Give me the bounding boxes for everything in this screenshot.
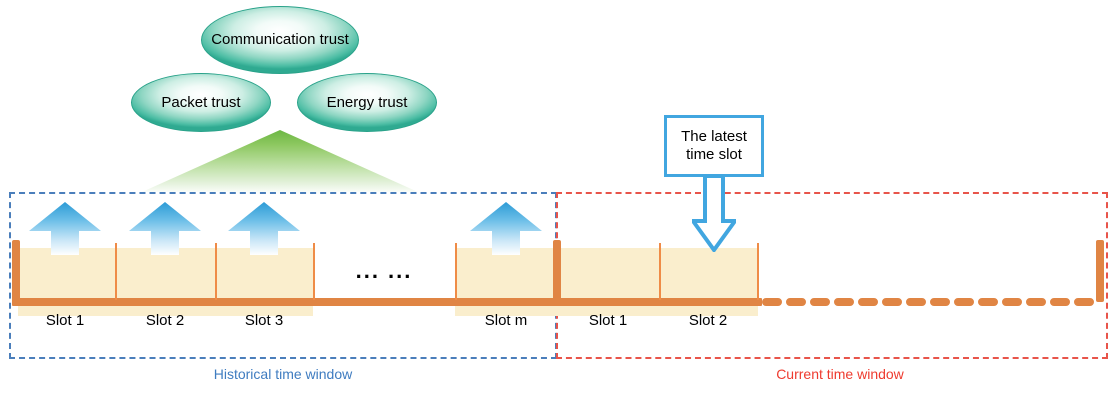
slot-tick — [455, 243, 457, 300]
callout-line-2: time slot — [686, 146, 742, 163]
communication-trust-ellipse: Communication trust — [201, 6, 359, 74]
slot-tick — [659, 243, 661, 300]
slot-trust-arrow-icon — [469, 201, 543, 255]
slots-ellipsis: ... ... — [313, 258, 455, 284]
slot-tick — [115, 243, 117, 300]
historical-slot-label-3: Slot 3 — [224, 312, 304, 329]
timeline-baseline — [12, 298, 762, 306]
current-slot-label-2: Slot 2 — [668, 312, 748, 329]
historical-slot-label-m: Slot m — [466, 312, 546, 329]
historical-slot-label-2: Slot 2 — [125, 312, 205, 329]
timeline-left-upright — [12, 240, 20, 302]
energy-trust-label: Energy trust — [327, 94, 408, 111]
timeline-right-upright — [1096, 240, 1104, 302]
slot-tick — [757, 243, 759, 300]
slot-trust-arrow-icon — [128, 201, 202, 255]
callout-line-1: The latest — [681, 128, 747, 145]
communication-trust-label: Communication trust — [211, 31, 349, 48]
latest-time-slot-callout-text: The latest time slot — [681, 128, 747, 164]
timeline-continuation-dots — [762, 298, 1100, 306]
callout-down-arrow-icon — [692, 176, 736, 252]
timeline-window-divider-upright — [553, 240, 561, 302]
packet-trust-label: Packet trust — [161, 94, 240, 111]
diagram-canvas: Communication trust Packet trust Energy … — [0, 0, 1115, 405]
slot-trust-arrow-icon — [28, 201, 102, 255]
historical-slot-label-1: Slot 1 — [25, 312, 105, 329]
current-window-caption: Current time window — [740, 366, 940, 382]
latest-time-slot-callout: The latest time slot — [664, 115, 764, 177]
historical-window-caption: Historical time window — [183, 366, 383, 382]
aggregation-arrow-icon — [140, 128, 420, 194]
packet-trust-ellipse: Packet trust — [131, 73, 271, 132]
slot-tick — [215, 243, 217, 300]
slot-trust-arrow-icon — [227, 201, 301, 255]
energy-trust-ellipse: Energy trust — [297, 73, 437, 132]
current-slot-label-1: Slot 1 — [568, 312, 648, 329]
